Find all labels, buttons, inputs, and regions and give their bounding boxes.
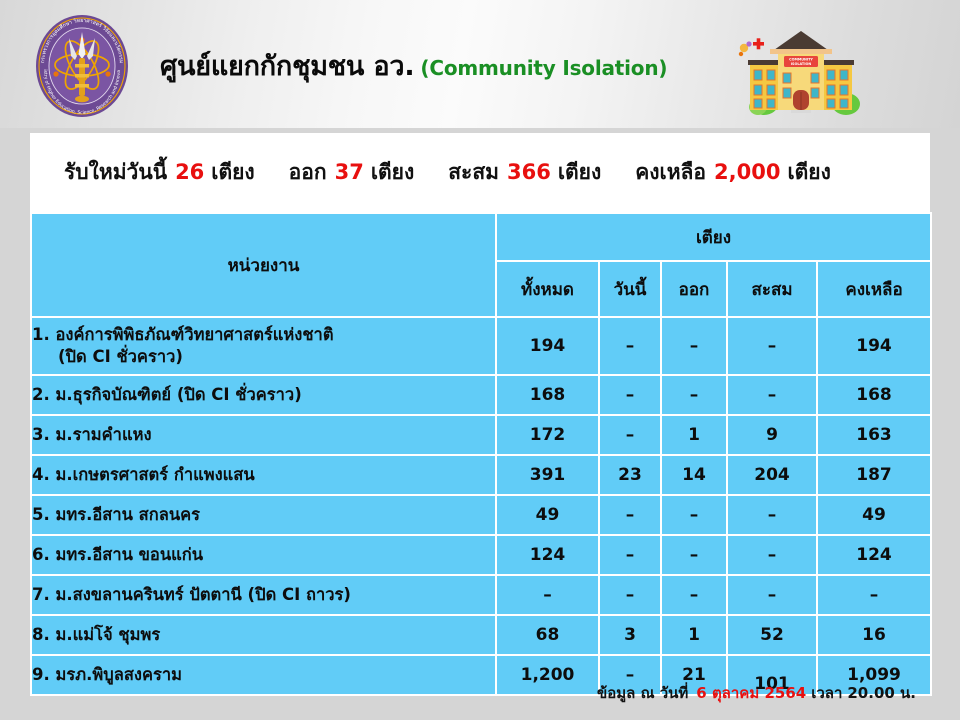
cell-today: – [599,495,661,535]
svg-text:ISOLATION: ISOLATION [791,62,812,66]
agency-name-cell: 5. มทร.อีสาน สกลนคร [31,495,496,535]
column-header-agency: หน่วยงาน [31,213,496,317]
cell-total: 172 [496,415,599,455]
table-header: หน่วยงาน เตียง ทั้งหมด วันนี้ ออก สะสม ค… [31,213,931,317]
cell-accum: – [727,375,817,415]
agency-name-cell: 2. ม.ธุรกิจบัณฑิตย์ (ปิด CI ชั่วคราว) [31,375,496,415]
virus-cross-cluster-icon [739,38,764,56]
content-panel: รับใหม่วันนี้ 26 เตียง ออก 37 เตียง สะสม… [30,133,930,666]
agency-name-cell: 1. องค์การพิพิธภัณฑ์วิทยาศาสตร์แห่งชาติ(… [31,317,496,375]
table-header-row-1: หน่วยงาน เตียง [31,213,931,261]
table-row: 1. องค์การพิพิธภัณฑ์วิทยาศาสตร์แห่งชาติ(… [31,317,931,375]
column-header-out: ออก [661,261,727,317]
cell-remaining: 16 [817,615,931,655]
mhesi-seal-logo: กระทรวงการอุดมศึกษา วิทยาศาสตร์ วิจัยและ… [28,12,136,120]
cell-today: – [599,575,661,615]
cell-accum: 9 [727,415,817,455]
stat-new-today: รับใหม่วันนี้ 26 เตียง [64,156,255,189]
agency-name-cell: 8. ม.แม่โจ้ ชุมพร [31,615,496,655]
table-row: 2. ม.ธุรกิจบัณฑิตย์ (ปิด CI ชั่วคราว) 16… [31,375,931,415]
page-title-english: (Community Isolation) [420,56,667,80]
cell-accum: 204 [727,455,817,495]
page-title-thai: ศูนย์แยกกักชุมชน อว. [160,51,414,82]
cell-remaining: 187 [817,455,931,495]
cell-total: 49 [496,495,599,535]
agency-name-cell: 4. ม.เกษตรศาสตร์ กำแพงแสน [31,455,496,495]
agency-name-line2: (ปิด CI ชั่วคราว) [32,346,495,368]
cell-remaining: – [817,575,931,615]
bed-capacity-table: หน่วยงาน เตียง ทั้งหมด วันนี้ ออก สะสม ค… [30,212,932,696]
cell-total: 68 [496,615,599,655]
column-header-today: วันนี้ [599,261,661,317]
stat-discharged: ออก 37 เตียง [289,156,415,189]
cell-today: 3 [599,615,661,655]
agency-name-cell: 6. มทร.อีสาน ขอนแก่น [31,535,496,575]
cell-out: 1 [661,615,727,655]
cell-out: – [661,495,727,535]
stat-accumulated: สะสม 366 เตียง [448,156,601,189]
cell-today: 23 [599,455,661,495]
table-row: 7. ม.สงขลานครินทร์ ปัตตานี (ปิด CI ถาวร)… [31,575,931,615]
stat-new-today-unit: เตียง [211,156,254,189]
cell-total: 168 [496,375,599,415]
stat-remaining-unit: เตียง [787,156,830,189]
agency-name-cell: 7. ม.สงขลานครินทร์ ปัตตานี (ปิด CI ถาวร) [31,575,496,615]
stat-remaining-label: คงเหลือ [635,156,706,189]
cell-today: – [599,535,661,575]
agency-name-cell: 3. ม.รามคำแหง [31,415,496,455]
cell-total: 391 [496,455,599,495]
svg-text:COMMUNITY: COMMUNITY [789,58,813,62]
cell-today: – [599,375,661,415]
column-header-remaining: คงเหลือ [817,261,931,317]
column-group-header-beds: เตียง [496,213,931,261]
cell-today: – [599,415,661,455]
cell-remaining: 194 [817,317,931,375]
cell-out: – [661,575,727,615]
table-row: 3. ม.รามคำแหง 172 – 1 9 163 [31,415,931,455]
cell-out: 1 [661,415,727,455]
cell-accum: – [727,575,817,615]
cell-remaining: 163 [817,415,931,455]
page-title: ศูนย์แยกกักชุมชน อว.(Community Isolation… [160,44,740,90]
cell-remaining: 49 [817,495,931,535]
table-row: 8. ม.แม่โจ้ ชุมพร 68 3 1 52 16 [31,615,931,655]
cell-today: – [599,317,661,375]
cell-accum: – [727,317,817,375]
table-row: 6. มทร.อีสาน ขอนแก่น 124 – – – 124 [31,535,931,575]
footer-time-label: เวลา [811,684,842,702]
footer-date: 6 ตุลาคม 2564 [696,684,806,702]
stat-discharged-label: ออก [289,156,327,189]
stat-accumulated-label: สะสม [448,156,499,189]
agency-name-line1: 1. องค์การพิพิธภัณฑ์วิทยาศาสตร์แห่งชาติ [32,325,334,344]
summary-stats-bar: รับใหม่วันนี้ 26 เตียง ออก 37 เตียง สะสม… [30,133,930,211]
stat-remaining: คงเหลือ 2,000 เตียง [635,156,831,189]
stat-accumulated-unit: เตียง [558,156,601,189]
data-timestamp-footer: ข้อมูล ณ วันที่6 ตุลาคม 2564เวลา20.00 น. [30,681,930,705]
cell-accum: 52 [727,615,817,655]
cell-out: 14 [661,455,727,495]
table-row: 4. ม.เกษตรศาสตร์ กำแพงแสน 391 23 14 204 … [31,455,931,495]
footer-time: 20.00 น. [847,684,916,702]
stat-accumulated-value: 366 [507,160,551,184]
column-header-total: ทั้งหมด [496,261,599,317]
table-row: 5. มทร.อีสาน สกลนคร 49 – – – 49 [31,495,931,535]
cell-out: – [661,375,727,415]
cell-out: – [661,317,727,375]
stat-new-today-label: รับใหม่วันนี้ [64,156,167,189]
cell-total: 124 [496,535,599,575]
column-header-accum: สะสม [727,261,817,317]
cell-accum: – [727,535,817,575]
table-body: 1. องค์การพิพิธภัณฑ์วิทยาศาสตร์แห่งชาติ(… [31,317,931,695]
stat-remaining-value: 2,000 [714,160,780,184]
cell-total: 194 [496,317,599,375]
community-isolation-building-illustration: COMMUNITY ISOLATION [734,20,868,116]
stat-new-today-value: 26 [175,160,204,184]
cell-accum: – [727,495,817,535]
cell-remaining: 168 [817,375,931,415]
cell-total: – [496,575,599,615]
stat-discharged-value: 37 [335,160,364,184]
footer-prefix: ข้อมูล ณ วันที่ [597,684,688,702]
cell-out: – [661,535,727,575]
stat-discharged-unit: เตียง [371,156,414,189]
cell-remaining: 124 [817,535,931,575]
page-header-banner: กระทรวงการอุดมศึกษา วิทยาศาสตร์ วิจัยและ… [0,0,960,128]
